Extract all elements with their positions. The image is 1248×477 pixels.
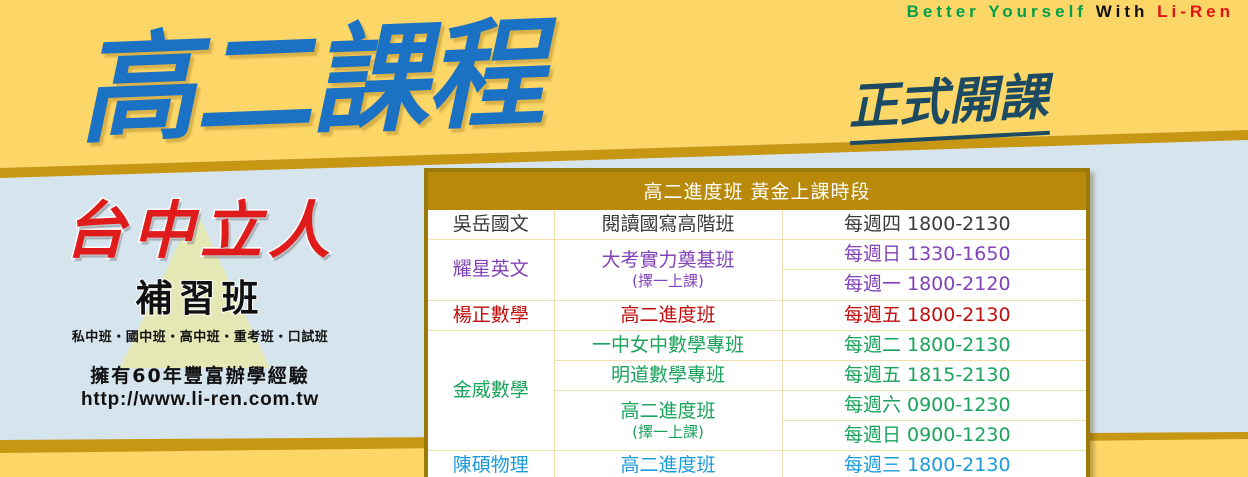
table-row: 耀星英文大考實力奠基班(擇一上課)每週日 1330-1650 [428, 240, 1086, 270]
cell-course-name: 閱讀國寫高階班 [601, 213, 734, 235]
cell-course: 高二進度班 [554, 300, 782, 330]
cell-course: 高二進度班 [554, 451, 782, 477]
table-row: 陳碩物理高二進度班每週三 1800-2130 [428, 451, 1086, 477]
cell-course: 閱讀國寫高階班 [554, 210, 782, 240]
cell-course: 高二進度班(擇一上課) [554, 391, 782, 451]
cell-time: 每週日 0900-1230 [782, 421, 1086, 451]
logo-school-type: 補習班 [30, 268, 370, 322]
cell-time: 每週二 1800-2130 [782, 330, 1086, 360]
tagline-word-with: With [1096, 2, 1149, 21]
cell-course-name: 高二進度班 [620, 304, 715, 326]
cell-course-note: (擇一上課) [559, 272, 778, 290]
school-logo: 台中立人 補習班 私中班・國中班・高中班・重考班・口試班 擁有60年豐富辦學經驗… [30, 200, 370, 411]
cell-teacher: 金威數學 [428, 330, 554, 451]
cell-time: 每週五 1815-2130 [782, 360, 1086, 390]
cell-time: 每週日 1330-1650 [782, 240, 1086, 270]
tagline-word-yourself: Yourself [988, 2, 1087, 21]
table-header-title: 高二進度班 黃金上課時段 [428, 172, 1086, 210]
logo-website-url[interactable]: http://www.li-ren.com.tw [30, 389, 370, 411]
tagline-word-better: Better [907, 2, 980, 21]
cell-course-name: 一中女中數學專班 [592, 334, 744, 356]
cell-time: 每週一 1800-2120 [782, 270, 1086, 300]
cell-course-name: 高二進度班 [620, 400, 715, 422]
schedule-table-container: 高二進度班 黃金上課時段 吳岳國文閱讀國寫高階班每週四 1800-2130耀星英… [424, 168, 1090, 477]
logo-school-name: 台中立人 [30, 200, 370, 262]
tagline-word-liren: Li-Ren [1157, 2, 1234, 21]
cell-time: 每週五 1800-2130 [782, 300, 1086, 330]
cell-course-name: 高二進度班 [620, 454, 715, 476]
table-row: 金威數學一中女中數學專班每週二 1800-2130 [428, 330, 1086, 360]
cell-teacher: 耀星英文 [428, 240, 554, 300]
logo-class-list: 私中班・國中班・高中班・重考班・口試班 [30, 326, 370, 345]
table-row: 楊正數學高二進度班每週五 1800-2130 [428, 300, 1086, 330]
course-promo-banner: Better Yourself With Li-Ren 高二課程 正式開課 台中… [0, 0, 1248, 477]
table-header-row: 高二進度班 黃金上課時段 [428, 172, 1086, 210]
tagline: Better Yourself With Li-Ren [907, 2, 1234, 22]
cell-teacher: 陳碩物理 [428, 451, 554, 477]
cell-teacher: 吳岳國文 [428, 210, 554, 240]
page-title: 高二課程 [76, 7, 545, 157]
schedule-table-body: 吳岳國文閱讀國寫高階班每週四 1800-2130耀星英文大考實力奠基班(擇一上課… [428, 210, 1086, 477]
cell-course: 明道數學專班 [554, 360, 782, 390]
cell-course: 大考實力奠基班(擇一上課) [554, 240, 782, 300]
cell-time: 每週六 0900-1230 [782, 391, 1086, 421]
cell-course-note: (擇一上課) [559, 423, 778, 441]
cell-course-name: 大考實力奠基班 [601, 249, 734, 271]
cell-time: 每週三 1800-2130 [782, 451, 1086, 477]
cell-time: 每週四 1800-2130 [782, 210, 1086, 240]
cell-teacher: 楊正數學 [428, 300, 554, 330]
cell-course-name: 明道數學專班 [611, 364, 725, 386]
cell-course: 一中女中數學專班 [554, 330, 782, 360]
table-row: 吳岳國文閱讀國寫高階班每週四 1800-2130 [428, 210, 1086, 240]
logo-experience-text: 擁有60年豐富辦學經驗 [30, 361, 370, 388]
page-subtitle: 正式開課 [846, 57, 1050, 145]
schedule-table: 高二進度班 黃金上課時段 吳岳國文閱讀國寫高階班每週四 1800-2130耀星英… [428, 172, 1086, 477]
